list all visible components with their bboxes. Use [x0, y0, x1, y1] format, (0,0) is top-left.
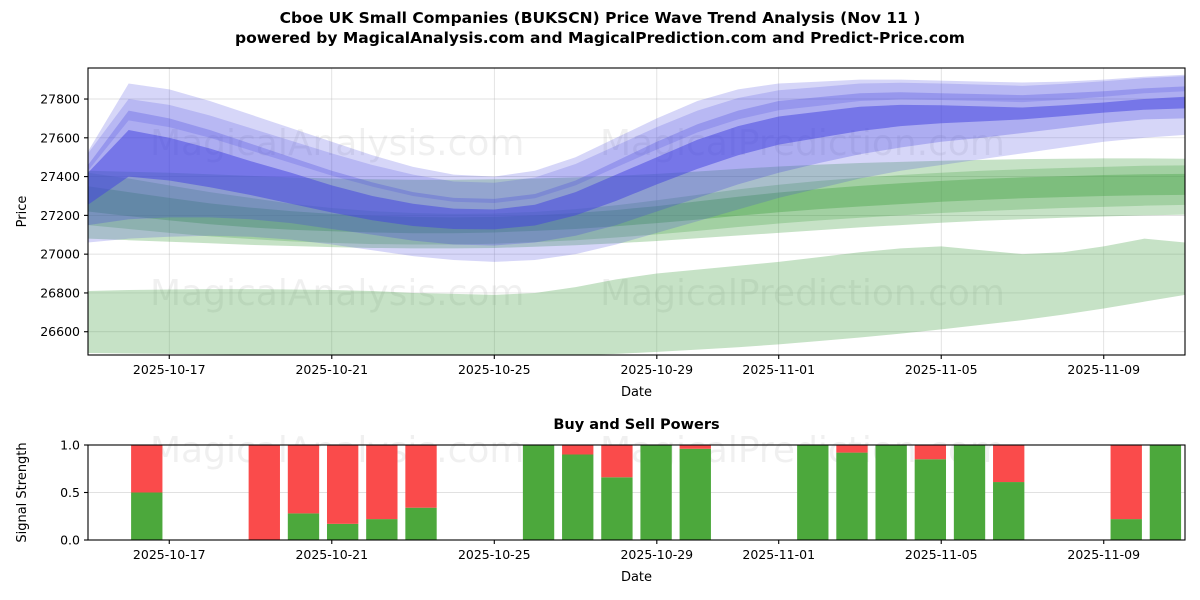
chart-canvas: MagicalAnalysis.comMagicalPrediction.com… — [0, 0, 1200, 600]
bar-buy-23 — [993, 482, 1024, 540]
bar-buy-15 — [680, 449, 711, 540]
bar-sell-23 — [993, 445, 1024, 482]
bar-buy-11 — [523, 445, 554, 540]
bar-buy-6 — [327, 524, 358, 540]
x-axis-title: Date — [621, 385, 652, 400]
xtick-label-3: 2025-10-29 — [620, 362, 693, 377]
bar-sell-1 — [131, 445, 162, 493]
buy-sell-bars — [131, 445, 1181, 540]
panel-title-buy-sell: Buy and Sell Powers — [553, 417, 719, 433]
ytick-label-1: 0.5 — [60, 485, 80, 500]
bar-buy-21 — [915, 459, 946, 540]
ytick-label-3: 27200 — [40, 208, 80, 223]
bar-sell-7 — [366, 445, 397, 519]
bar-sell-8 — [405, 445, 436, 508]
xtick-label-5: 2025-11-05 — [905, 362, 978, 377]
chart-page: Cboe UK Small Companies (BUKSCN) Price W… — [0, 0, 1200, 600]
bar-buy-20 — [875, 445, 906, 540]
bar-sell-12 — [562, 445, 593, 455]
bar-buy-1 — [131, 493, 162, 541]
xtick-label-1: 2025-10-21 — [295, 362, 368, 377]
xtick-label-6: 2025-11-09 — [1067, 547, 1140, 562]
bar-buy-8 — [405, 508, 436, 540]
xtick-label-4: 2025-11-01 — [742, 362, 815, 377]
ytick-label-6: 27800 — [40, 92, 80, 107]
price-bands — [88, 75, 1185, 357]
bar-buy-14 — [640, 445, 671, 540]
y-axis-title: Signal Strength — [15, 442, 30, 542]
xtick-label-0: 2025-10-17 — [133, 362, 206, 377]
xtick-label-5: 2025-11-05 — [905, 547, 978, 562]
bar-buy-26 — [1111, 519, 1142, 540]
xtick-label-0: 2025-10-17 — [133, 547, 206, 562]
price-wave-panel: 266002680027000272002740027600278002025-… — [15, 68, 1185, 400]
xtick-label-2: 2025-10-25 — [458, 362, 531, 377]
bar-sell-19 — [836, 445, 867, 453]
bar-buy-27 — [1150, 445, 1181, 540]
bar-buy-19 — [836, 453, 867, 540]
ytick-label-0: 0.0 — [60, 533, 80, 548]
bar-buy-5 — [288, 513, 319, 540]
bar-buy-18 — [797, 445, 828, 540]
bar-sell-15 — [680, 445, 711, 449]
x-axis-title: Date — [621, 570, 652, 585]
xtick-label-6: 2025-11-09 — [1067, 362, 1140, 377]
ytick-label-1: 26800 — [40, 285, 80, 300]
xtick-label-1: 2025-10-21 — [295, 547, 368, 562]
bar-buy-22 — [954, 445, 985, 540]
ytick-label-2: 1.0 — [60, 438, 80, 453]
xtick-label-3: 2025-10-29 — [620, 547, 693, 562]
bar-buy-13 — [601, 477, 632, 540]
ytick-label-4: 27400 — [40, 169, 80, 184]
band-green-outer-lower — [88, 239, 1185, 357]
bar-sell-13 — [601, 445, 632, 477]
ytick-label-2: 27000 — [40, 247, 80, 262]
xtick-label-2: 2025-10-25 — [458, 547, 531, 562]
y-axis-title: Price — [15, 196, 30, 228]
bar-sell-5 — [288, 445, 319, 513]
xtick-label-4: 2025-11-01 — [742, 547, 815, 562]
ytick-label-0: 26600 — [40, 324, 80, 339]
bar-buy-7 — [366, 519, 397, 540]
bar-buy-12 — [562, 455, 593, 541]
bar-sell-21 — [915, 445, 946, 459]
bar-sell-26 — [1111, 445, 1142, 519]
ytick-label-5: 27600 — [40, 130, 80, 145]
bar-sell-4 — [249, 445, 280, 540]
bar-sell-6 — [327, 445, 358, 524]
